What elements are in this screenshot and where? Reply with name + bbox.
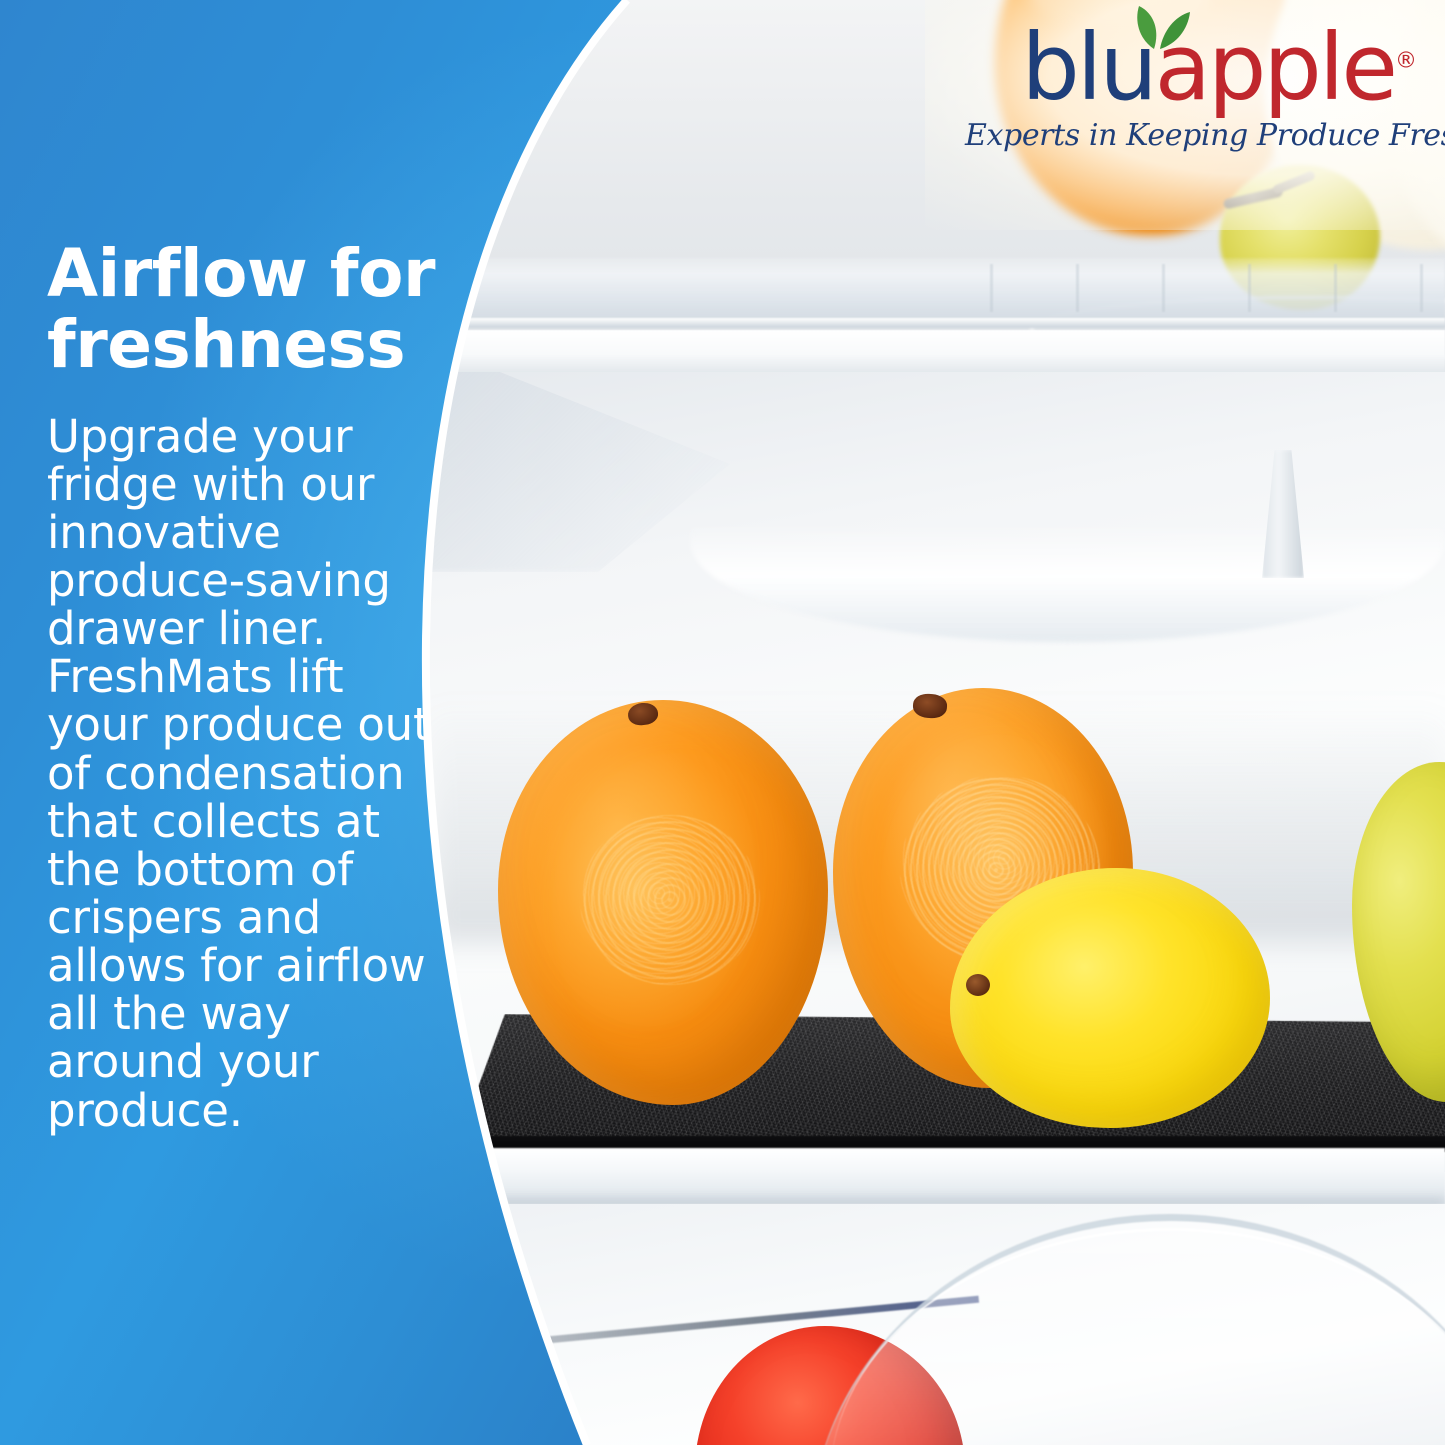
lemon-stem-icon (966, 974, 990, 996)
glass-shelf-edge (430, 318, 1445, 327)
shelf-ribs (990, 264, 1445, 312)
shelf-frame (430, 330, 1445, 374)
fridge-wall-tab (1262, 450, 1304, 578)
tagline-text: Experts in Keeping Produce Fresh (965, 118, 1445, 153)
fridge-wall-rib (690, 522, 1445, 642)
bottom-crisper-compartment (430, 1204, 1445, 1445)
logo-wordmark: bluapple® (965, 22, 1417, 114)
body-paragraph: Upgrade your fridge with our innovative … (47, 413, 437, 1135)
page-title: Airflow for freshness (47, 238, 437, 381)
apple-leaves-icon (1130, 4, 1194, 50)
product-feature-image: Airflow for freshness Upgrade your fridg… (0, 0, 1445, 1445)
logo-tagline: Experts in Keeping Produce Fresh™ (965, 118, 1417, 153)
registered-trademark-icon: ® (1395, 48, 1417, 73)
copy-block: Airflow for freshness Upgrade your fridg… (47, 238, 437, 1135)
orange-left-texture (580, 815, 760, 985)
shelf-lip (430, 1148, 1445, 1204)
fridge-wall-wedge (430, 372, 730, 572)
brand-logo: bluapple® Experts in Keeping Produce Fre… (965, 22, 1417, 153)
